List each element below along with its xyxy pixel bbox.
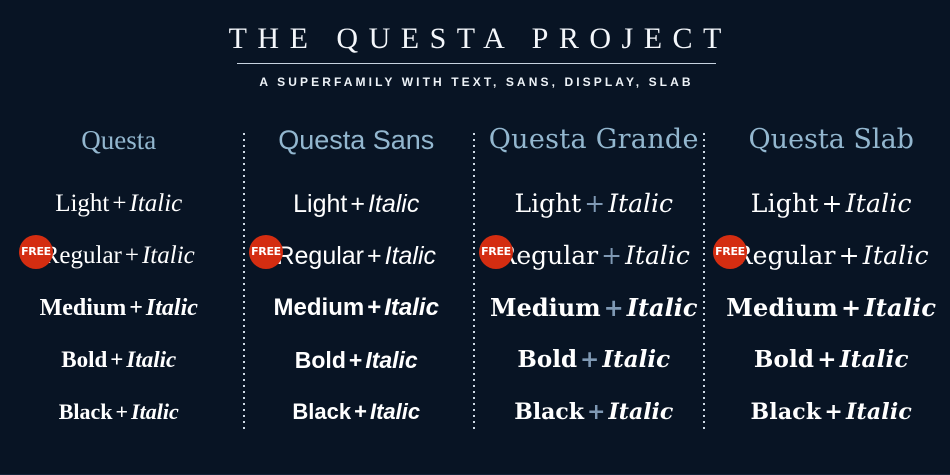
- weight-italic: Italic: [385, 242, 436, 270]
- weight-list-questa-sans: Light+Italic Regular+Italic Medium+Itali…: [238, 178, 476, 438]
- weight-row: Medium+Italic: [713, 282, 950, 334]
- weight-italic: Italic: [130, 190, 183, 217]
- family-column-questa-slab: Questa Slab Light+Italic Regular+Italic …: [713, 118, 950, 448]
- page-subtitle: A SUPERFAMILY WITH TEXT, SANS, DISPLAY, …: [0, 76, 950, 88]
- weight-name: Bold: [754, 346, 814, 373]
- weight-name: Light: [293, 190, 347, 218]
- title-divider-rule: [237, 63, 716, 64]
- weight-italic: Italic: [146, 295, 198, 321]
- weight-row: Black+Italic: [238, 386, 476, 438]
- weight-name: Medium: [490, 293, 601, 322]
- weight-italic: Italic: [370, 399, 420, 424]
- weight-italic: Italic: [863, 241, 929, 270]
- weight-plus: +: [347, 190, 368, 218]
- weight-name: Light: [514, 189, 581, 218]
- weight-plus: +: [126, 295, 146, 321]
- weight-name: Regular: [43, 242, 122, 269]
- weight-italic: Italic: [846, 189, 912, 218]
- free-badge-questa-grande[interactable]: FREE: [479, 235, 513, 269]
- masthead: THE QUESTA PROJECT A SUPERFAMILY WITH TE…: [0, 0, 950, 54]
- weight-name: Black: [750, 399, 821, 425]
- free-badge-questa-slab[interactable]: FREE: [713, 235, 747, 269]
- weight-italic: Italic: [608, 399, 673, 425]
- weight-italic: Italic: [840, 346, 909, 373]
- family-header-questa-sans: Questa Sans: [238, 118, 476, 162]
- weight-plus: +: [819, 189, 846, 218]
- weight-row: Black+Italic: [0, 386, 238, 438]
- family-header-questa-grande: Questa Grande: [475, 118, 713, 162]
- weight-name: Medium: [726, 293, 838, 322]
- weight-row: Medium+Italic: [0, 282, 238, 334]
- weight-row: Light+Italic: [475, 178, 713, 230]
- weight-name: Regular: [276, 242, 364, 270]
- weight-name: Bold: [295, 347, 346, 373]
- poster-canvas: THE QUESTA PROJECT A SUPERFAMILY WITH TE…: [0, 0, 950, 475]
- weight-italic: Italic: [864, 293, 936, 322]
- weight-list-questa-slab: Light+Italic Regular+Italic Medium+Itali…: [713, 178, 950, 438]
- weight-row: Light+Italic: [713, 178, 950, 230]
- weight-plus: +: [601, 293, 627, 322]
- weight-name: Black: [514, 399, 584, 425]
- family-header-questa: Questa: [0, 118, 238, 162]
- weight-italic: Italic: [608, 189, 673, 218]
- weight-name: Light: [55, 190, 109, 217]
- weight-italic: Italic: [384, 294, 439, 321]
- weight-italic: Italic: [142, 242, 195, 269]
- family-column-questa-grande: Questa Grande Light+Italic Regular+Itali…: [475, 118, 713, 448]
- weight-plus: +: [836, 241, 863, 270]
- weight-italic: Italic: [627, 293, 698, 322]
- weight-name: Light: [751, 189, 819, 218]
- weight-name: Medium: [274, 294, 365, 321]
- weight-row: Bold+Italic: [0, 334, 238, 386]
- family-columns: Questa Light+Italic Regular+Italic Mediu…: [0, 118, 950, 448]
- weight-row: Bold+Italic: [475, 334, 713, 386]
- weight-row: Regular+Italic: [713, 230, 950, 282]
- weight-italic: Italic: [126, 347, 176, 372]
- weight-name: Regular: [734, 241, 836, 270]
- weight-name: Bold: [517, 346, 577, 373]
- weight-plus: +: [821, 399, 846, 425]
- family-header-questa-slab: Questa Slab: [713, 118, 950, 162]
- weight-row: Light+Italic: [0, 178, 238, 230]
- weight-plus: +: [364, 294, 384, 321]
- weight-italic: Italic: [365, 347, 417, 373]
- weight-plus: +: [814, 346, 839, 373]
- weight-row: Medium+Italic: [475, 282, 713, 334]
- weight-name: Black: [292, 399, 351, 424]
- weight-plus: +: [109, 190, 129, 217]
- weight-plus: +: [364, 242, 385, 270]
- weight-row: Medium+Italic: [238, 282, 476, 334]
- weight-row: Bold+Italic: [238, 334, 476, 386]
- weight-name: Black: [59, 399, 113, 424]
- weight-plus: +: [577, 346, 602, 373]
- weight-row: Bold+Italic: [713, 334, 950, 386]
- page-title: THE QUESTA PROJECT: [0, 0, 950, 54]
- weight-plus: +: [598, 241, 625, 270]
- weight-name: Regular: [498, 241, 599, 270]
- weight-italic: Italic: [602, 346, 670, 373]
- weight-italic: Italic: [368, 190, 419, 218]
- family-column-questa-sans: Questa Sans Light+Italic Regular+Italic …: [238, 118, 476, 448]
- weight-name: Medium: [40, 295, 127, 321]
- free-badge-questa-sans[interactable]: FREE: [249, 235, 283, 269]
- weight-row: Black+Italic: [475, 386, 713, 438]
- weight-row: Light+Italic: [238, 178, 476, 230]
- weight-italic: Italic: [846, 399, 912, 425]
- weight-plus: +: [113, 399, 132, 424]
- weight-plus: +: [346, 347, 365, 373]
- weight-plus: +: [584, 399, 608, 425]
- weight-list-questa: Light+Italic Regular+Italic Medium+Itali…: [0, 178, 238, 438]
- weight-plus: +: [581, 189, 608, 218]
- weight-row: Black+Italic: [713, 386, 950, 438]
- weight-name: Bold: [61, 347, 107, 372]
- weight-plus: +: [838, 293, 864, 322]
- family-column-questa: Questa Light+Italic Regular+Italic Mediu…: [0, 118, 238, 448]
- weight-list-questa-grande: Light+Italic Regular+Italic Medium+Itali…: [475, 178, 713, 438]
- weight-italic: Italic: [131, 399, 179, 424]
- weight-plus: +: [107, 347, 126, 372]
- weight-plus: +: [122, 242, 142, 269]
- weight-plus: +: [351, 399, 370, 424]
- free-badge-questa[interactable]: FREE: [19, 235, 53, 269]
- weight-italic: Italic: [625, 241, 690, 270]
